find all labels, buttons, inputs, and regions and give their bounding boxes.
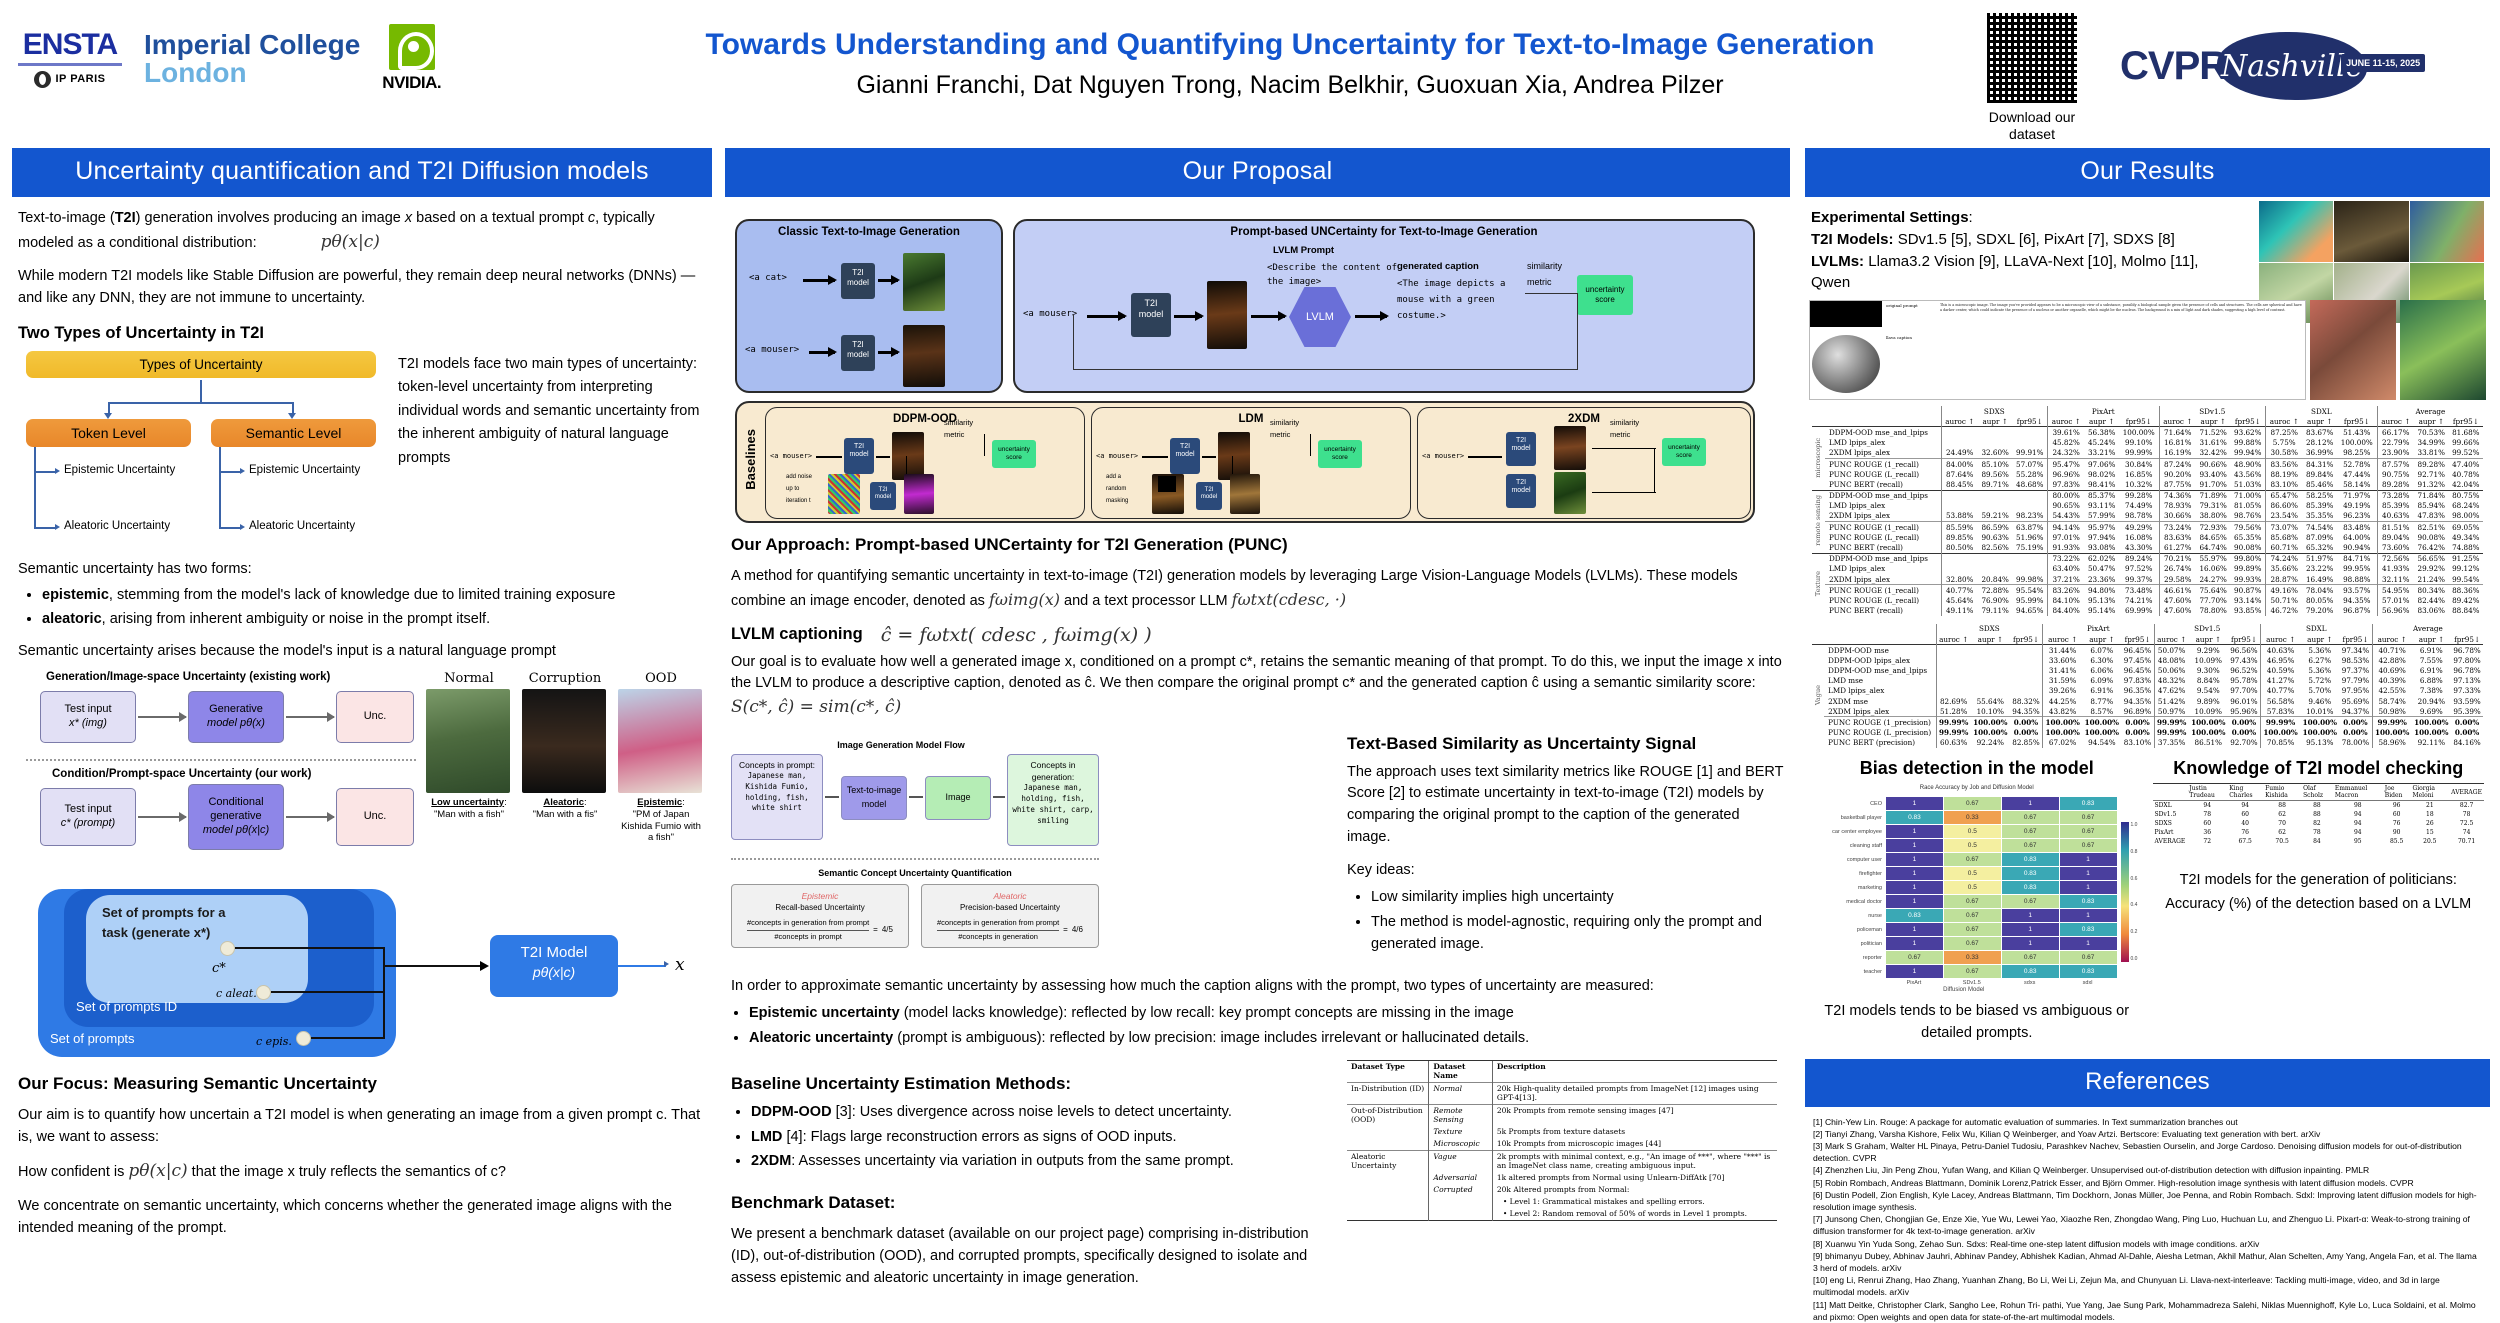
heatmap-cell: 1 [2002,797,2059,810]
focus-p2: How confident is pθ(x|c) that the image … [18,1159,706,1185]
table-cell: 65.35% [2230,532,2265,542]
table-cell: 40.63% [2377,511,2414,522]
ldm-masked-image [1152,474,1184,514]
baseline-bench-left: Baseline Uncertainty Estimation Methods:… [731,1060,1331,1290]
punc-arrow-1 [1087,315,1125,318]
concepts-in-generation-box: Concepts in generation: Japanese man, ho… [1007,754,1099,846]
table-cell: 62 [2263,810,2301,819]
test-input-prompt-box: Test inputc* (prompt) [40,788,136,846]
key-ideas-list: Low similarity implies high uncertainty … [1371,887,1778,955]
caption-line3: costume.> [1397,311,1446,322]
table-cell: 99.88% [2230,438,2265,448]
table-cell: 46.72% [2266,606,2303,616]
table-cell: 91.70% [2196,479,2231,490]
table-cell: 33.60% [2043,655,2083,665]
colorbar-ticks: 1.00.80.60.40.20.0 [2131,822,2138,962]
punc-arrow-2 [1174,315,1202,318]
table-cell: 83.63% [2159,532,2196,542]
concept-and-text-row: Image Generation Model Flow Concepts in … [731,732,1784,966]
heatmap-row-label: reporter [1811,955,1885,961]
table-row: SDXS PixArt SDv1.5 SDXL Average [1812,406,2483,416]
t2i-model-cflow: Text-to-image model [841,776,907,820]
table-cell: 18 [2410,810,2449,819]
bench-r1-type: Out-of-Distribution (OOD) [1347,1104,1429,1126]
list-item: DDPM-OOD [3]: Uses divergence across noi… [751,1102,1325,1124]
table-row-label: DDPM-OOD mse_and_lpips [1825,490,1941,501]
bench-r0-name: Normal [1429,1082,1493,1104]
ldm-arrow-2 [1202,456,1216,458]
colorbar-tick: 1.0 [2131,822,2138,828]
table-cell: 58.14% [2337,479,2377,490]
concept-flow-wrapper: Image Generation Model Flow Concepts in … [731,732,1331,966]
prompt-sets-diagram: Set of prompts for a task (generate x*) … [20,883,710,1068]
table-cell: 96.56% [2228,645,2261,656]
t1-m31: aupr ↑ [2302,416,2337,427]
heatmap-cell: 0.67 [1944,937,2001,950]
table-cell: 90.65% [2048,501,2085,511]
lvlm-equation: ĉ = fωtxt( cdesc , fωimg(x) ) [881,624,1152,646]
table-cell: 57.01% [2377,595,2414,605]
table-row: PUNC ROUGE (1_precision)99.99%100.00%0.0… [1812,717,2483,728]
set-task-label-1: Set of prompts for a [102,905,226,920]
table-cell: 6.09% [2082,676,2121,686]
table-cell: 0.00% [2339,717,2372,728]
arrow-cat-1 [803,279,835,282]
heatmap-cell: 0.67 [2002,825,2059,838]
cflow-t2i-l2: model [862,798,887,811]
table-cell: 90.66% [2196,458,2231,469]
bench-r4-name: Vague [1429,1150,1493,1172]
table-cell: 99.99% [1936,728,1971,738]
qualitative-example-row: original prompt This is a microscopic im… [1809,300,2486,400]
heatmap-cell: 1 [2060,881,2117,894]
heatmap-x-tick: sdxl [2059,980,2117,986]
goal-text: Our goal is to evaluate how well a gener… [731,654,1782,692]
table-cell: 97.79% [2339,676,2372,686]
table-cell: 99.80% [2230,553,2265,564]
uncertainty-score-punc: uncertaintyscore [1577,275,1633,315]
table-cell: 63.40% [2048,564,2085,574]
table-row: PUNC ROUGE (1_recall)40.77%72.88%95.54%8… [1812,585,2483,596]
heatmap-cell: 0.67 [1886,951,1943,964]
dot-c-aleat [256,985,271,1000]
t2-model-3: SDXL [2260,624,2372,634]
table-cell [1941,564,1978,574]
model-label-cat: model [847,278,869,287]
table-cell: 96.89% [2121,706,2154,717]
table-cell: 70.85% [2260,738,2300,748]
table-cell: 6.91% [2082,686,2121,696]
table-cell: 85.68% [2266,532,2303,542]
bench-r3-name: Microscopic [1429,1138,1493,1151]
table-cell: 100.00% [2300,717,2339,728]
table-cell: 40.59% [2260,666,2300,676]
approx-1-text: (model lacks knowledge): reflected by lo… [900,1005,1514,1021]
table-cell [2010,655,2043,665]
table-cell: 6.91% [2412,645,2451,656]
table-cell: 32.80% [1941,574,1978,585]
unc-box-2: Unc. [336,788,414,846]
t1-m20: auroc ↑ [2159,416,2196,427]
approx-block: In order to approximate semantic uncerta… [731,976,1784,998]
exp-heading: Experimental Settings: [1811,207,2241,229]
ddpm-noisy-image [828,474,860,514]
table-cell: 40 [2227,819,2263,828]
heatmap-cell: 0.67 [2060,951,2117,964]
semantic-forms-list: epistemic, stemming from the model's lac… [42,585,700,632]
table-cell: 45.82% [2048,438,2085,448]
caption-line2: mouse with a green [1397,295,1495,306]
metric-label-punc: metric [1527,277,1552,288]
arrow-cat-2 [878,279,898,282]
t2-m32: fpr95↓ [2339,634,2372,645]
table-cell: 99.66% [2448,438,2483,448]
setline-1 [235,947,385,949]
knowledge-section: Knowledge of T2I model checking Justin T… [2153,758,2485,1045]
heatmap-cell: 0.83 [1886,909,1943,922]
p1-e: based on a textual prompt [412,210,588,226]
t2i-box-mouser-classic: T2Imodel [841,335,875,371]
arrow-3 [138,816,186,818]
unc-box-1: Unc. [336,691,414,743]
cond-model-l1: Conditional [208,796,263,808]
table-cell [2012,427,2047,438]
reference-item: [2] Tianyi Zhang, Varsha Kishore, Felix … [1813,1128,2482,1140]
table-cell: 23.90% [2377,448,2414,459]
tree-arrow-epis-l [55,468,60,474]
ddpm-prompt: <a mouser> [770,452,812,460]
caption-line1: <The image depicts a [1397,279,1505,290]
ldm-mask-2: random [1106,486,1126,493]
panel-classic-t2i: Classic Text-to-Image Generation <a cat>… [735,219,1003,393]
t2-m42: fpr95↓ [2451,634,2483,645]
table-cell: 100.00% [2043,717,2083,728]
photo-quote-corruption: "Man with a fis" [533,809,598,820]
xdm-unc-score: uncertaintyscore [1662,438,1706,466]
table-cell: 93.57% [2337,585,2377,596]
table-cell: 84.31% [2302,458,2337,469]
ldm-arrow-1 [1142,456,1168,458]
heatmap-row-label: policeman [1811,927,1885,933]
table-cell: 96.35% [2121,686,2154,696]
table-cell: 5.72% [2300,676,2339,686]
bias-knowledge-row: Bias detection in the model Race Accurac… [1811,758,2484,1045]
exp-t2i-row: T2I Models: SDv1.5 [5], SDXL [6], PixArt… [1811,229,2241,251]
table-cell: 100.00% [1971,728,2010,738]
table-row-label: PUNC ROUGE (L_recall) [1825,595,1941,605]
table-cell: 58.96% [2372,738,2412,748]
t2-corner-b [1824,624,1936,634]
heatmap-cell: 1 [2060,853,2117,866]
colorbar-tick: 0.8 [2131,849,2138,855]
table-cell: 57.83% [2260,706,2300,717]
table-cell: 24.32% [2048,448,2085,459]
punc-feedback-v1 [1073,315,1074,369]
table-cell: 21.24% [2414,574,2449,585]
bench-h-1: Dataset Name [1429,1060,1493,1082]
sem-b2-text: , arising from inherent ambiguity or noi… [102,611,490,627]
table-cell: 45.64% [1941,595,1978,605]
table-cell: 67.02% [2043,738,2083,748]
photo-cap-bold-normal: Low uncertainty [431,797,504,808]
table-cell: 6.07% [2082,645,2121,656]
table-cell: 83.10% [2266,479,2303,490]
nvidia-wordmark: NVIDIA. [382,73,441,93]
table-cell: 96.01% [2228,696,2261,706]
table-cell: 72 [2187,837,2227,846]
table-row: LMD lpips_alex90.65%93.11%74.49%78.93%79… [1812,501,2483,511]
heatmap-cell: 1 [1886,853,1943,866]
approach-text-b: and a text processor LLM [1064,593,1228,609]
table-cell: 47.40% [2448,458,2483,469]
table-cell: 76 [2383,819,2411,828]
table-cell: 97.43% [2228,655,2261,665]
ldm-unc-score: uncertaintyscore [1318,440,1362,468]
t1-corner-a [1812,406,1825,416]
table-cell: 59.21% [1978,511,2013,522]
tree-leaf-epistemic-token: Epistemic Uncertainty [64,464,175,476]
photo-image-ood [618,689,702,793]
table-row-label: SDXS [2153,819,2188,828]
table-row-label: PUNC ROUGE (1_recall) [1825,458,1941,469]
table-row: Microscopic 10k Prompts from microscopic… [1347,1138,1777,1151]
table-cell: 26 [2410,819,2449,828]
table-cell: 91.93% [2048,542,2085,553]
table-row-label: PUNC ROUGE (1_recall) [1825,522,1941,533]
heading-text-similarity: Text-Based Similarity as Uncertainty Sig… [1347,734,1784,754]
table-cell [1941,438,1978,448]
t2i-box-cat: T2Imodel [841,263,875,299]
table-cell: 78.80% [2196,606,2231,616]
table-cell: 82.85% [2010,738,2043,748]
table-cell: 23.54% [2266,511,2303,522]
table-cell [2010,645,2043,656]
gen-model-sym: model pθ(x) [207,717,265,729]
table-cell: 92.70% [2228,738,2261,748]
table-cell: 100.00% [2260,728,2300,738]
table-cell: 24.27% [2196,574,2231,585]
table-row-label: SDv1.5 [2153,810,2188,819]
t1-m22: fpr95↓ [2230,416,2265,427]
xdm-t2i2-l2: model [1511,487,1530,494]
table-cell: 31.59% [2043,676,2083,686]
table-cell: 94.35% [2121,696,2154,706]
table-cell: 29.58% [2159,574,2196,585]
table-cell: 56.58% [2260,696,2300,706]
heatmap-x-tick: sdxs [2001,980,2059,986]
table-cell: 39.61% [2048,427,2085,438]
table-cell: 30.66% [2159,511,2196,522]
xdm-metric: metric [1610,430,1630,439]
page-title: Towards Understanding and Quantifying Un… [630,28,1950,63]
table-row: SDXL9494888898962182.7 [2153,801,2485,811]
punc-arrow-3 [1251,315,1285,318]
table-cell: 73.48% [2119,585,2159,596]
test-input-prompt-label: Test input [64,803,111,815]
table-cell: 48.90% [2230,458,2265,469]
table-row: LMD lpips_alex63.40%50.47%97.52%26.74%16… [1812,564,2483,574]
table-row: PUNC ROUGE (L_recall)87.64%89.56%55.28%9… [1812,469,2483,479]
qr-code-icon[interactable] [1984,10,2080,106]
sym-c-star: c* [212,961,226,976]
table-header-cell: AVERAGE [2449,784,2484,801]
heatmap-row-label: basketball player [1811,815,1885,821]
table-cell: 7.55% [2412,655,2451,665]
heatmap-cell: 0.67 [1944,797,2001,810]
table-cell: 32.42% [2196,448,2231,459]
table-cell: 81.68% [2448,427,2483,438]
baseline-methods-list: DDPM-OOD [3]: Uses divergence across noi… [751,1102,1325,1173]
cflow-t2i-l1: Text-to-image [847,784,902,797]
sample-img-2 [2334,201,2408,262]
table-row-label: DDPM-OOD mse [1824,645,1936,656]
p1-c: ) generation involves producing an image [136,210,405,226]
table-cell: 80.75% [2448,490,2483,501]
table-cell: 92.11% [2412,738,2451,748]
table-cell: 82 [2301,819,2333,828]
exp-heading-text: Experimental Settings [1811,209,1969,226]
list-item: epistemic, stemming from the model's lac… [42,585,700,607]
t2-m31: aupr ↑ [2300,634,2339,645]
table-row: PUNC ROUGE (1_recall)84.00%85.10%57.07%9… [1812,458,2483,469]
table-cell: 96.23% [2337,511,2377,522]
t2-m02: fpr95↓ [2010,634,2043,645]
xdm-t2i2-l1: T2I [1516,479,1526,486]
table-cell: 100.00% [2043,728,2083,738]
t2-m10: auroc ↑ [2043,634,2083,645]
table-cell: 98.23% [2012,511,2047,522]
ddpm-noise-3: iteration t [786,498,811,505]
arrow-mouser-1 [809,351,835,354]
recall-based-label: Recall-based Uncertainty [736,902,904,914]
approx-intro: In order to approximate semantic uncerta… [731,976,1784,998]
table-cell: 97.34% [2339,645,2372,656]
bench-r1-desc: 20k Prompts from remote sensing images [… [1492,1104,1777,1126]
table-cell: 0.00% [2121,728,2154,738]
panel-punc: Prompt-based UNCertainty for Text-to-Ima… [1013,219,1755,393]
table-cell: 95.96% [2228,706,2261,717]
ensta-ip-paris: IP PARIS [34,71,105,88]
t1-model-4: Average [2377,406,2483,416]
table-cell: 73.24% [2159,522,2196,533]
aleatoric-value: 4/6 [1072,924,1083,936]
list-item: Low similarity implies high uncertainty [1371,887,1778,909]
xdm-unc-l2: score [1676,452,1692,459]
table-cell: 99.99% [2154,717,2189,728]
dot-c-star [220,941,235,956]
table-row-label: PUNC BERT (precision) [1824,738,1936,748]
table-cell: 91.32% [2414,479,2449,490]
tree-arrow-alea-r [240,524,245,530]
t2-m00: auroc ↑ [1936,634,1971,645]
bench-r6-name: Corrupted [1429,1184,1493,1196]
table-cell: 79.11% [1978,606,2013,616]
table-cell: 98.78% [2119,511,2159,522]
heatmap-cell: 1 [2002,909,2059,922]
t2-model-2: SDv1.5 [2154,624,2260,634]
t1-model-2: SDv1.5 [2159,406,2266,416]
ddpm-recon-image [904,474,934,514]
table-cell: 76.42% [2414,542,2449,553]
bench-r5-name: Adversarial [1429,1172,1493,1184]
list-item: Aleatoric uncertainty (prompt is ambiguo… [749,1028,1784,1050]
t2-h-b [1824,634,1936,645]
heatmap-cell: 0.67 [1944,965,2001,978]
table-cell: 98.41% [2084,479,2119,490]
heatmap-row-label: firefighter [1811,871,1885,877]
knowledge-caption-1: T2I models for the generation of politic… [2153,870,2485,892]
ldm-t2i-l1: T2I [1180,443,1190,450]
table-cell: 71.84% [2414,490,2449,501]
bench-foot-2 [1492,1220,1777,1224]
t2i-model-line1: T2I Model [490,943,618,963]
table-cell: 85.10% [1978,458,2013,469]
politicians-table: Justin TrudeauKing CharlesFumio KishidaO… [2153,783,2485,846]
table-cell: 0.00% [2451,717,2483,728]
xdm-t2i-1: T2Imodel [1506,432,1536,466]
table-cell [1978,427,2013,438]
table-cell: 94.35% [2010,706,2043,717]
table-cell: 50.06% [2154,666,2189,676]
table-cell: 47.83% [2414,511,2449,522]
bench-r0-desc: 20k High-quality detailed prompts from I… [1492,1082,1777,1104]
table-row: LMD lpips_alex45.82%45.24%99.10%16.81%31… [1812,438,2483,448]
poster-root: ENSTA IP PARIS Imperial College London N… [0,0,2500,1250]
tree-line-h2 [34,527,56,529]
concepts-gen-label: Concepts in generation: [1010,759,1096,784]
heatmap-cell: 1 [2060,867,2117,880]
table-cell: 94 [2187,801,2227,811]
t2i-model-box: T2I Model pθ(x|c) [490,935,618,997]
table-cell: 9.46% [2300,696,2339,706]
table-row-label: 2XDM lpips_alex [1825,511,1941,522]
table-cell [1936,645,1971,656]
table-row-label: PUNC BERT (recall) [1825,479,1941,490]
table-cell: 28.12% [2302,438,2337,448]
table-cell: 89.24% [2119,553,2159,564]
t2i-label-cat: T2I [852,268,864,277]
bench-r7-desc: • Level 1: Grammatical mistakes and spel… [1492,1196,1777,1208]
table-cell: 100.00% [1971,717,2010,728]
table-cell: 99.98% [2012,574,2047,585]
tree-arrow-right [288,413,296,419]
table-cell: 36.99% [2302,448,2337,459]
table-cell: 99.93% [2230,574,2265,585]
table-cell: 100.00% [2337,438,2377,448]
table-cell: 65.32% [2302,542,2337,553]
table-cell: 42.88% [2372,655,2412,665]
results-table-1: SDXS PixArt SDv1.5 SDXL Average auroc ↑a… [1812,406,2483,616]
table-row: remote sensingDDPM-OOD mse_and_lpips80.0… [1812,490,2483,501]
table-cell: 49.11% [1941,606,1978,616]
table-row: In-Distribution (ID) Normal 20k High-qua… [1347,1082,1777,1104]
p1-b: T2I [115,210,136,226]
cflow-arrow-2 [909,796,923,798]
ddpm-t2i-l2: model [849,451,868,458]
sym-c-epis: c epis. [256,1035,292,1048]
table-row-label: PUNC ROUGE (L_precision) [1824,728,1936,738]
table-cell: 44.25% [2043,696,2083,706]
table-cell: 72.93% [2196,522,2231,533]
table-cell [2010,666,2043,676]
table-cell [1971,645,2010,656]
table-cell: 70.71 [2449,837,2484,846]
table-cell: 35.35% [2302,511,2337,522]
table-cell: 30.58% [2266,448,2303,459]
table-row-label: PUNC ROUGE (1_precision) [1824,717,1936,728]
xdm-arrow-1 [1468,456,1502,458]
table-cell: 98.53% [2339,655,2372,665]
